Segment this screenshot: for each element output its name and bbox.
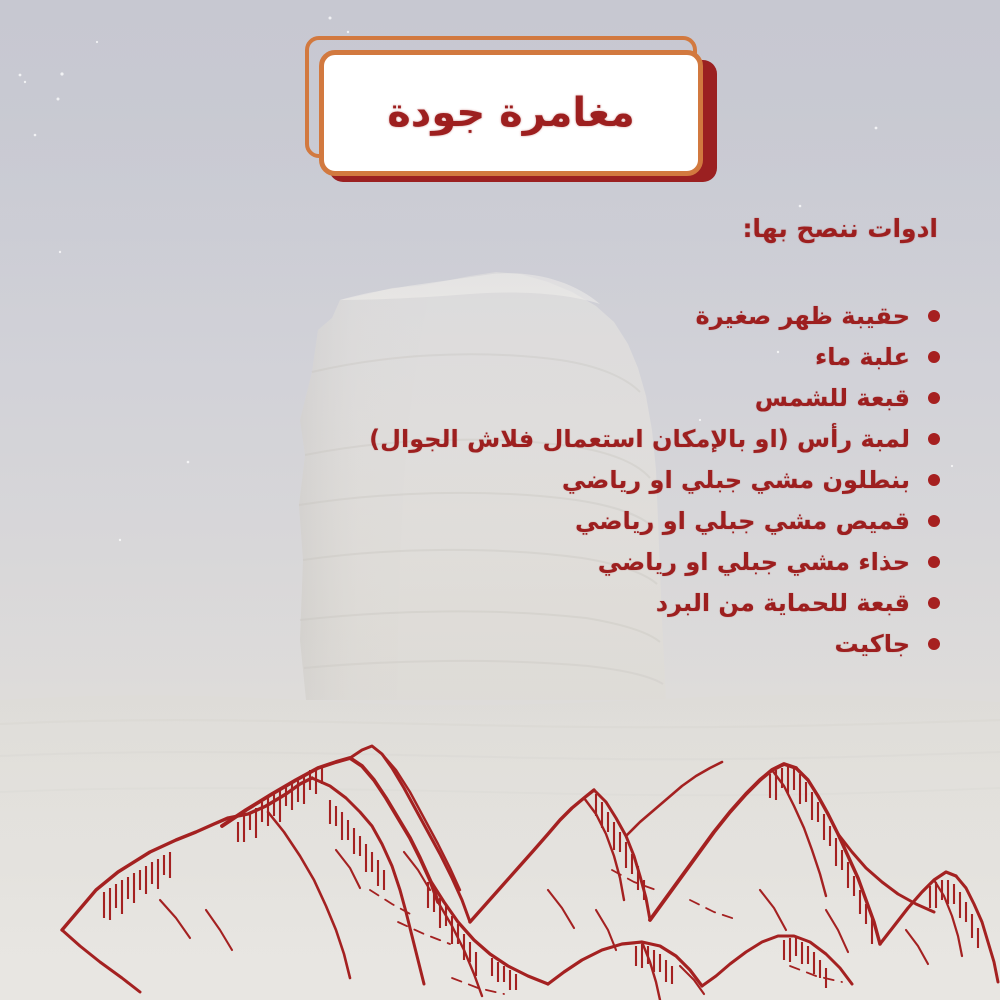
recommended-tools-list: حقيبة ظهر صغيرة علبة ماء قبعة للشمس لمبة… — [60, 295, 940, 664]
bullet-icon — [928, 638, 940, 650]
list-item: حقيبة ظهر صغيرة — [60, 295, 940, 336]
list-item: جاكيت — [60, 623, 940, 664]
bullet-icon — [928, 515, 940, 527]
list-item: قبعة للحماية من البرد — [60, 582, 940, 623]
list-item: حذاء مشي جبلي او رياضي — [60, 541, 940, 582]
list-item-label: جاكيت — [835, 630, 910, 658]
content-column: ادوات ننصح بها: حقيبة ظهر صغيرة علبة ماء… — [60, 214, 940, 664]
list-item: لمبة رأس (او بالإمكان استعمال فلاش الجوا… — [60, 418, 940, 459]
list-item-label: قبعة للحماية من البرد — [656, 589, 910, 617]
bullet-icon — [928, 474, 940, 486]
bullet-icon — [928, 392, 940, 404]
list-item-label: علبة ماء — [815, 343, 910, 371]
list-item: قبعة للشمس — [60, 377, 940, 418]
bullet-icon — [928, 310, 940, 322]
page-title: مغامرة جودة — [387, 90, 635, 136]
mountain-range-illustration — [0, 740, 1000, 1000]
poster-canvas: مغامرة جودة ادوات ننصح بها: حقيبة ظهر صغ… — [0, 0, 1000, 1000]
list-item-label: حذاء مشي جبلي او رياضي — [598, 548, 910, 576]
bullet-icon — [928, 597, 940, 609]
list-item-label: لمبة رأس (او بالإمكان استعمال فلاش الجوا… — [369, 425, 910, 453]
list-item: علبة ماء — [60, 336, 940, 377]
list-item-label: قبعة للشمس — [755, 384, 910, 412]
bullet-icon — [928, 556, 940, 568]
title-card-block: مغامرة جودة — [305, 36, 715, 186]
list-item: بنطلون مشي جبلي او رياضي — [60, 459, 940, 500]
bullet-icon — [928, 433, 940, 445]
title-card: مغامرة جودة — [319, 50, 703, 176]
list-item-label: حقيبة ظهر صغيرة — [696, 302, 910, 330]
list-item-label: قميص مشي جبلي او رياضي — [575, 507, 910, 535]
bottom-haze-overlay — [0, 620, 1000, 1000]
list-item: قميص مشي جبلي او رياضي — [60, 500, 940, 541]
list-item-label: بنطلون مشي جبلي او رياضي — [562, 466, 910, 494]
section-title: ادوات ننصح بها: — [60, 214, 940, 243]
bullet-icon — [928, 351, 940, 363]
